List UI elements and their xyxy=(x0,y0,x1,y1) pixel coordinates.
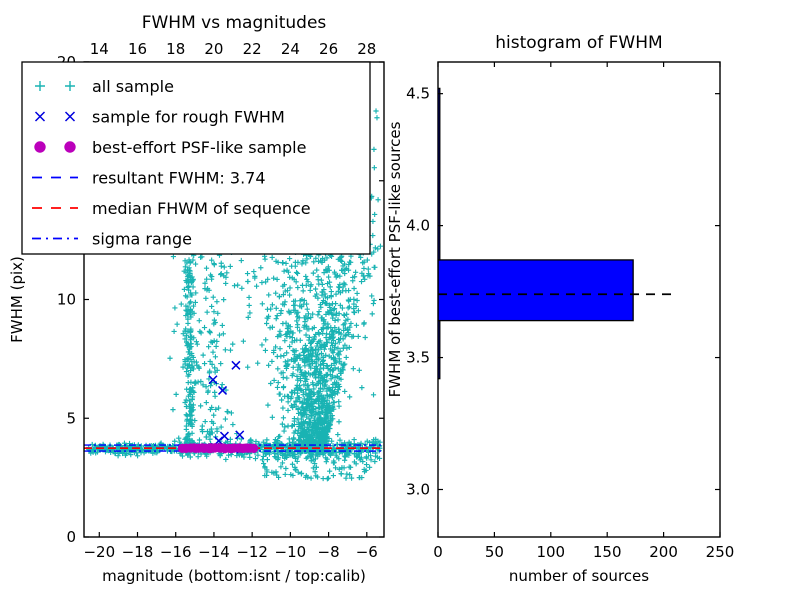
left-top-tick-label: 20 xyxy=(204,40,223,58)
right-x-tick-label: 250 xyxy=(706,543,735,561)
left-panel-title: FWHM vs magnitudes xyxy=(142,13,327,33)
left-x-tick-label: −16 xyxy=(160,543,192,561)
right-x-tick-label: 150 xyxy=(593,543,622,561)
right-panel-title: histogram of FWHM xyxy=(495,33,662,53)
left-y-tick-label: 0 xyxy=(66,528,76,546)
legend-item-label: sample for rough FWHM xyxy=(92,108,285,127)
legend-item-label: resultant FWHM: 3.74 xyxy=(92,169,266,188)
left-x-tick-label: −12 xyxy=(236,543,268,561)
left-top-tick-label: 22 xyxy=(243,40,262,58)
right-x-tick-label: 200 xyxy=(649,543,678,561)
right-panel-xlabel: number of sources xyxy=(509,567,649,585)
right-y-tick-label: 3.0 xyxy=(406,481,430,499)
right-y-tick-label: 4.0 xyxy=(406,217,430,235)
right-y-tick-label: 3.5 xyxy=(406,349,430,367)
legend-item-label: median FHWM of sequence xyxy=(92,199,311,218)
right-panel-histogram xyxy=(438,62,720,537)
left-top-tick-label: 18 xyxy=(166,40,185,58)
matplotlib-figure: 05101520−20−18−16−14−12−10−8−61416182022… xyxy=(0,0,800,600)
left-top-tick-label: 26 xyxy=(319,40,338,58)
legend-item-label: best-effort PSF-like sample xyxy=(92,138,306,157)
psf-sample-dot xyxy=(250,444,258,452)
left-panel-xlabel: magnitude (bottom:isnt / top:calib) xyxy=(102,567,366,585)
right-x-tick-label: 0 xyxy=(433,543,443,561)
left-top-tick-label: 28 xyxy=(357,40,376,58)
legend-item-label: sigma range xyxy=(92,230,192,249)
histogram-bar xyxy=(438,260,633,321)
right-y-tick-label: 4.5 xyxy=(406,85,430,103)
right-x-tick-label: 50 xyxy=(485,543,504,561)
legend-box xyxy=(22,62,370,254)
psf-sample-points xyxy=(178,444,258,453)
right-x-tick-label: 100 xyxy=(536,543,565,561)
legend-item-label: all sample xyxy=(92,77,174,96)
circle-icon xyxy=(35,142,45,152)
figure-canvas: 05101520−20−18−16−14−12−10−8−61416182022… xyxy=(0,0,800,600)
left-top-tick-label: 16 xyxy=(128,40,147,58)
left-y-tick-label: 5 xyxy=(66,409,76,427)
left-y-tick-label: 10 xyxy=(57,291,76,309)
left-panel-ylabel: FWHM (pix) xyxy=(8,256,26,343)
right-panel-ylabel: FWHM of best-effort PSF-like sources xyxy=(386,121,404,397)
left-x-tick-label: −8 xyxy=(318,543,340,561)
legend: all samplesample for rough FWHMbest-effo… xyxy=(22,62,370,254)
left-top-tick-label: 24 xyxy=(281,40,300,58)
left-x-tick-label: −20 xyxy=(83,543,115,561)
circle-icon xyxy=(65,142,75,152)
left-top-tick-label: 14 xyxy=(90,40,109,58)
left-x-tick-label: −6 xyxy=(356,543,378,561)
left-x-tick-label: −10 xyxy=(275,543,307,561)
left-x-tick-label: −18 xyxy=(122,543,154,561)
left-x-tick-label: −14 xyxy=(198,543,230,561)
